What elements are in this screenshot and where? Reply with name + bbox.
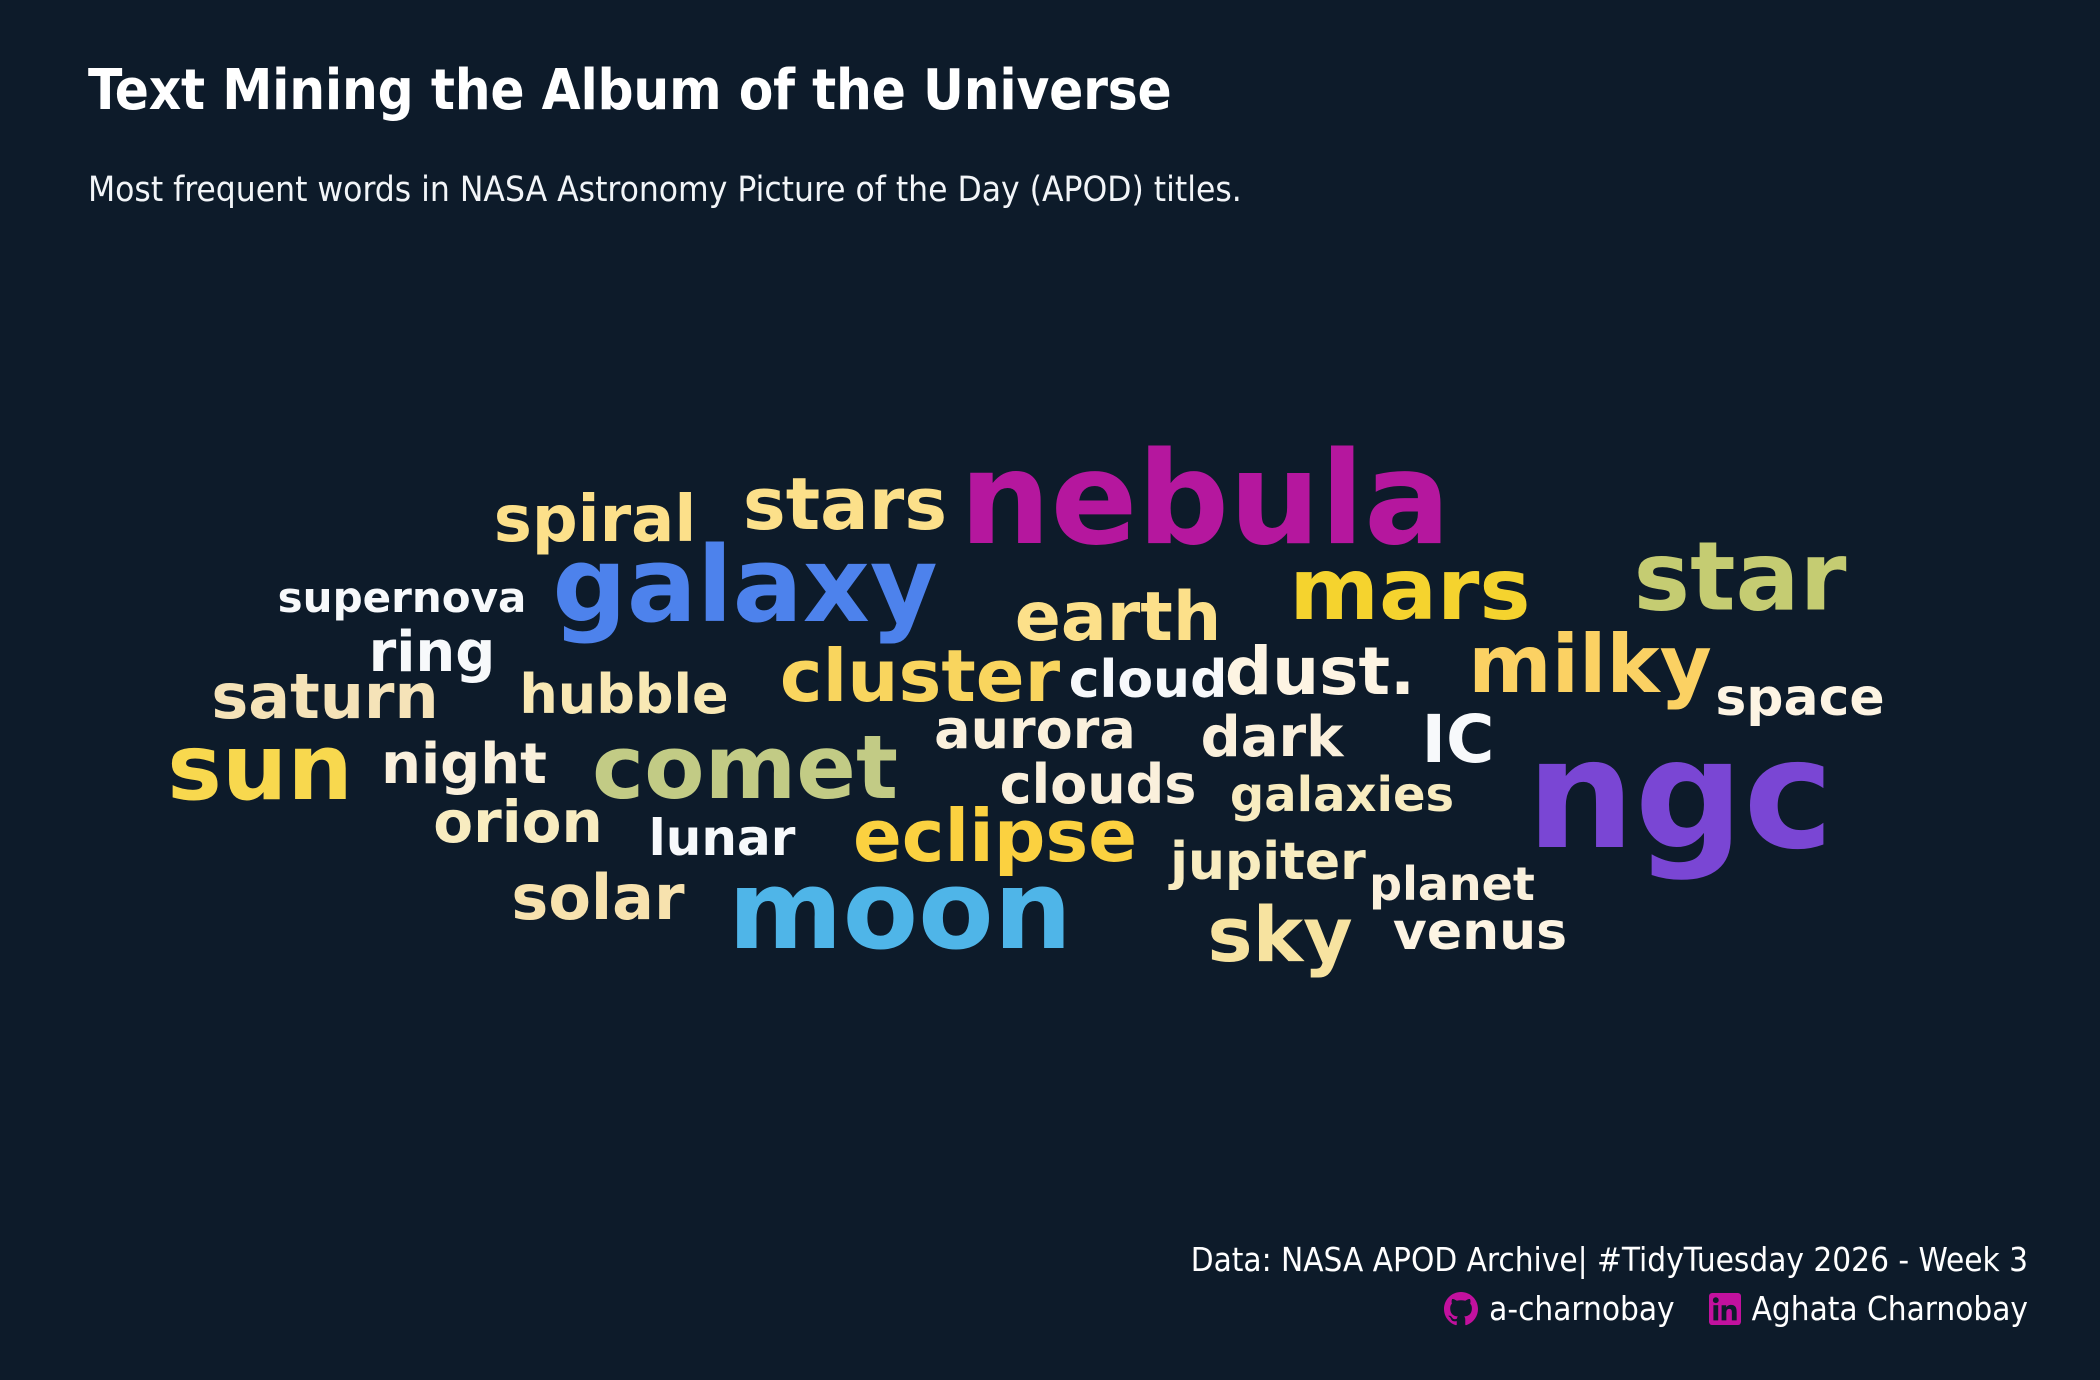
cloud-word: dark	[1201, 710, 1344, 766]
cloud-word: sky	[1207, 897, 1352, 973]
github-icon	[1444, 1292, 1478, 1326]
linkedin-icon	[1709, 1293, 1741, 1325]
cloud-word: dust.	[1225, 639, 1415, 705]
linkedin-name: Aghata Charnobay	[1752, 1289, 2028, 1328]
cloud-word: IC	[1422, 707, 1495, 773]
data-source-line: Data: NASA APOD Archive| #TidyTuesday 20…	[1191, 1240, 2028, 1279]
cloud-word: milky	[1468, 625, 1712, 705]
infographic-canvas: Text Mining the Album of the Universe Mo…	[0, 0, 2100, 1380]
linkedin-link[interactable]: Aghata Charnobay	[1709, 1289, 2028, 1328]
cloud-word: lunar	[649, 813, 796, 863]
github-link[interactable]: a-charnobay	[1444, 1289, 1674, 1328]
word-cloud: nebulangcgalaxymoonstarsuncometmarsmilky…	[0, 0, 2100, 1380]
cloud-word: stars	[743, 468, 947, 540]
cloud-word: aurora	[934, 703, 1136, 757]
cloud-word: venus	[1393, 906, 1567, 958]
cloud-word: star	[1634, 531, 1847, 626]
cloud-word: supernova	[278, 577, 527, 619]
cloud-word: night	[381, 737, 547, 793]
cloud-word: jupiter	[1170, 836, 1366, 888]
cloud-word: ngc	[1526, 719, 1833, 871]
cloud-word: earth	[1015, 584, 1221, 652]
footer-credits: Data: NASA APOD Archive| #TidyTuesday 20…	[1191, 1240, 2028, 1328]
cloud-word: hubble	[519, 668, 728, 722]
social-links: a-charnobay Aghata Charnobay	[1191, 1289, 2028, 1328]
cloud-word: spiral	[494, 488, 697, 552]
cloud-word: clouds	[1000, 758, 1197, 812]
cloud-word: galaxies	[1230, 771, 1454, 819]
cloud-word: solar	[511, 867, 684, 929]
cloud-word: ring	[369, 625, 496, 681]
cloud-word: orion	[433, 793, 602, 851]
cloud-word: planet	[1369, 861, 1535, 907]
cloud-word: sun	[167, 722, 353, 814]
cloud-word: space	[1715, 672, 1884, 724]
github-handle: a-charnobay	[1489, 1289, 1674, 1328]
